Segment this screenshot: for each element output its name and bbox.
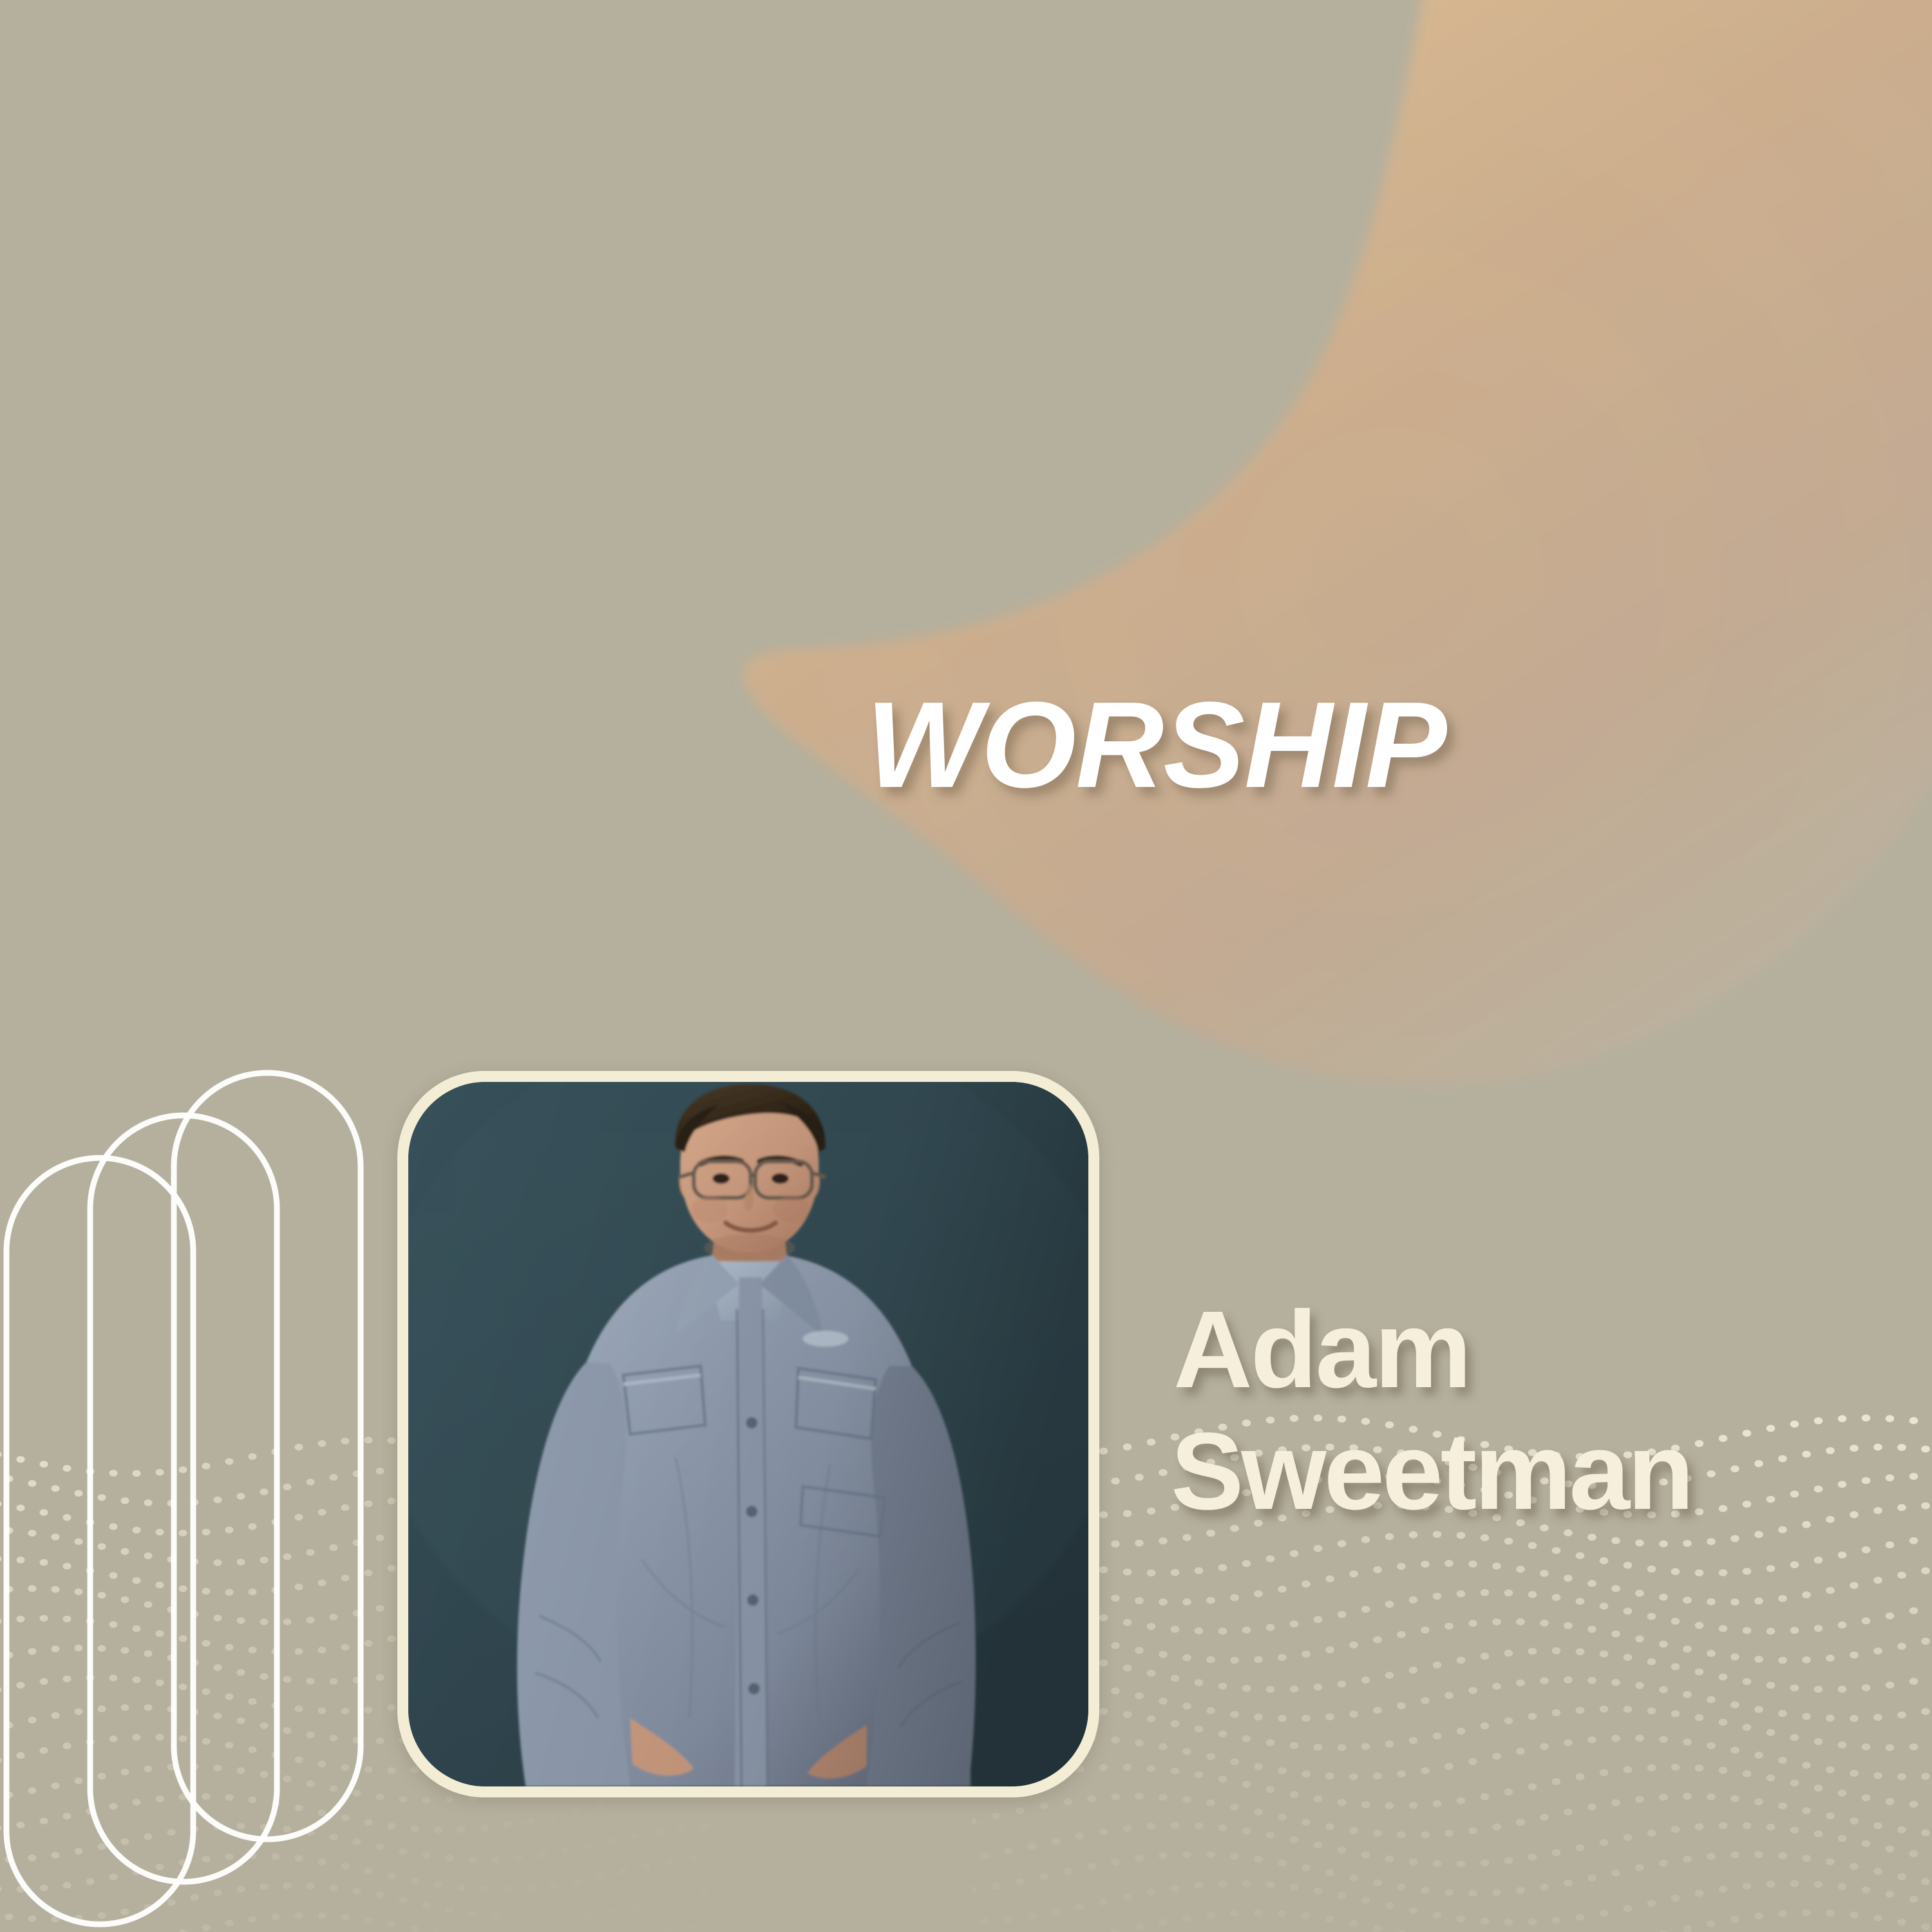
pill-outline-2 [90,1115,277,1882]
person-name: Adam Sweetman [1171,1296,1932,1525]
portrait-card [397,1071,1099,1797]
person-first-name: Adam [1171,1296,1932,1404]
portrait-photo-frame [408,1082,1088,1786]
overlapping-pill-outlines [0,1056,399,1932]
portrait-image [408,1082,1088,1786]
graphic-canvas: WORSHIP [0,0,1932,1932]
pill-outline-3 [174,1073,361,1839]
person-last-name: Sweetman [1171,1418,1932,1526]
page-title: WORSHIP [866,684,1446,806]
pill-outline-1 [6,1158,193,1924]
